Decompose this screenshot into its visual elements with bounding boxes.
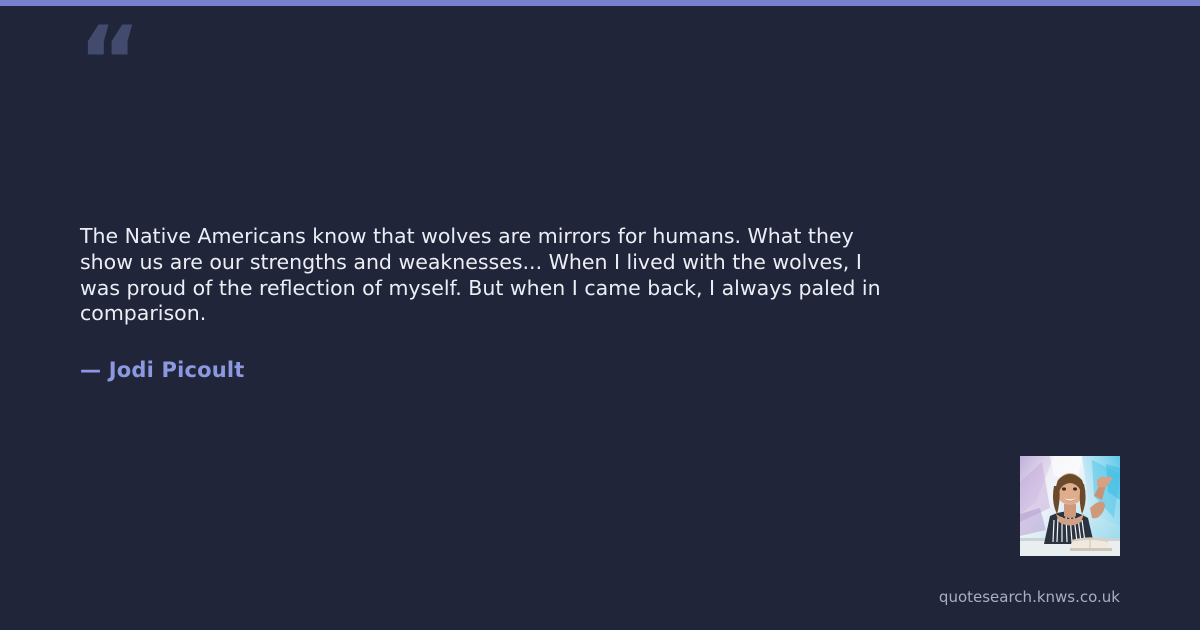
quote-line: was proud of the reflection of myself. B…: [80, 276, 980, 302]
open-quote-icon: “: [78, 14, 139, 110]
quote-text: The Native Americans know that wolves ar…: [80, 224, 980, 327]
quote-attribution: — Jodi Picoult: [80, 358, 245, 382]
quote-card: “ The Native Americans know that wolves …: [0, 6, 1200, 630]
source-url[interactable]: quotesearch.knws.co.uk: [939, 588, 1120, 606]
quote-line: comparison.: [80, 301, 980, 327]
quote-line: The Native Americans know that wolves ar…: [80, 224, 980, 250]
author-photo-icon: [1020, 456, 1120, 556]
quote-line: show us are our strengths and weaknesses…: [80, 250, 980, 276]
author-thumbnail[interactable]: [1020, 456, 1120, 556]
